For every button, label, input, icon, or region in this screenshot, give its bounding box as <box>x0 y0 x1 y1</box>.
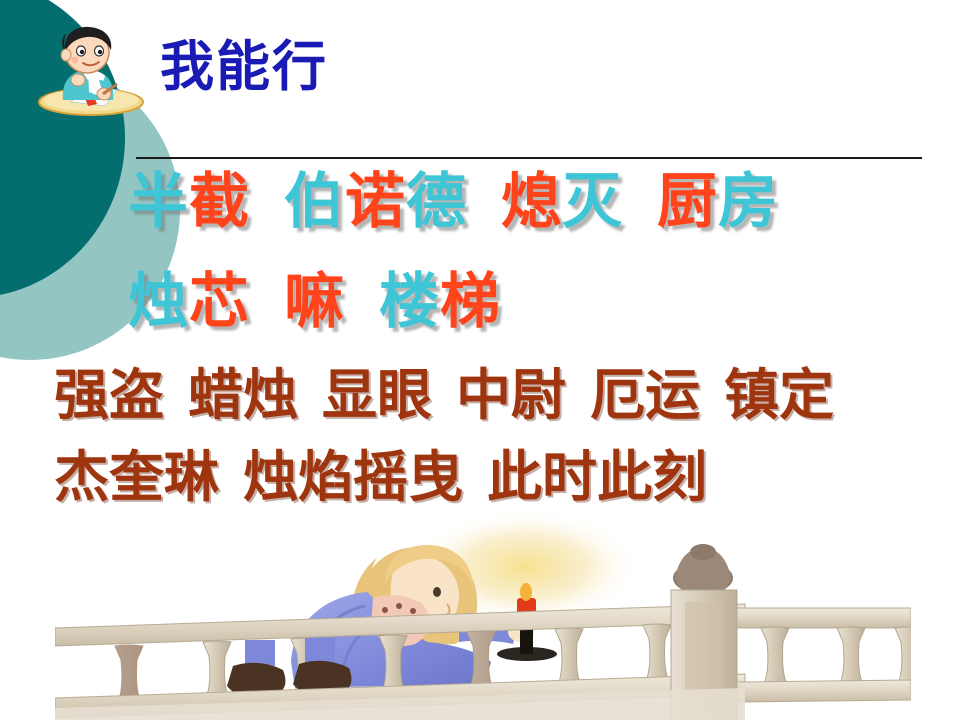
wordlist-word: 显眼 <box>322 363 432 427</box>
wordart-char: 德 <box>406 172 467 232</box>
wordart-char: 诺 <box>345 172 406 232</box>
wordlist-word: 中尉 <box>456 363 566 427</box>
wordart-word: 熄灭 <box>501 167 623 237</box>
wordart-row-1: 半截伯诺德熄灭厨房 <box>128 172 779 232</box>
wordlist-row-1: 强盗蜡烛显眼中尉厄运镇定 <box>54 368 834 423</box>
wordart-word: 嘛 <box>284 267 345 337</box>
wordart-char: 熄 <box>501 172 562 232</box>
wordlist-word: 镇定 <box>724 363 834 427</box>
wordart-char: 房 <box>718 172 779 232</box>
horizontal-divider <box>136 157 922 159</box>
wordart-char: 灭 <box>562 172 623 232</box>
wordart-char: 截 <box>189 172 250 232</box>
wordlist-row-2: 杰奎琳烛焰摇曳此时此刻 <box>54 450 707 505</box>
wordart-word: 厨房 <box>657 167 779 237</box>
wordart-char: 梯 <box>440 272 501 332</box>
wordart-char: 厨 <box>657 172 718 232</box>
wordart-word: 半截 <box>128 167 250 237</box>
wordart-char: 嘛 <box>284 272 345 332</box>
illustration-artwork <box>55 512 911 720</box>
wordart-word: 楼梯 <box>379 267 501 337</box>
wordart-char: 伯 <box>284 172 345 232</box>
thinking-boy-clipart <box>33 22 145 117</box>
wordlist-word: 厄运 <box>590 363 700 427</box>
slide-canvas: 我能行 半截伯诺德熄灭厨房 烛芯嘛楼梯 强盗蜡烛显眼中尉厄运镇定 杰奎琳烛焰摇曳… <box>0 0 960 720</box>
wordlist-word: 强盗 <box>54 363 164 427</box>
wordart-char: 半 <box>128 172 189 232</box>
page-title: 我能行 <box>160 40 328 94</box>
girl-with-candle-illustration <box>55 512 911 720</box>
wordart-char: 芯 <box>189 272 250 332</box>
wordlist-word: 杰奎琳 <box>54 445 219 509</box>
wordart-word: 伯诺德 <box>284 167 467 237</box>
wordart-char: 楼 <box>379 272 440 332</box>
wordart-char: 烛 <box>128 272 189 332</box>
wordart-row-2: 烛芯嘛楼梯 <box>128 272 501 332</box>
wordlist-word: 烛焰摇曳 <box>243 445 463 509</box>
wordart-word: 烛芯 <box>128 267 250 337</box>
wordlist-word: 蜡烛 <box>188 363 298 427</box>
wordlist-word: 此时此刻 <box>487 445 707 509</box>
